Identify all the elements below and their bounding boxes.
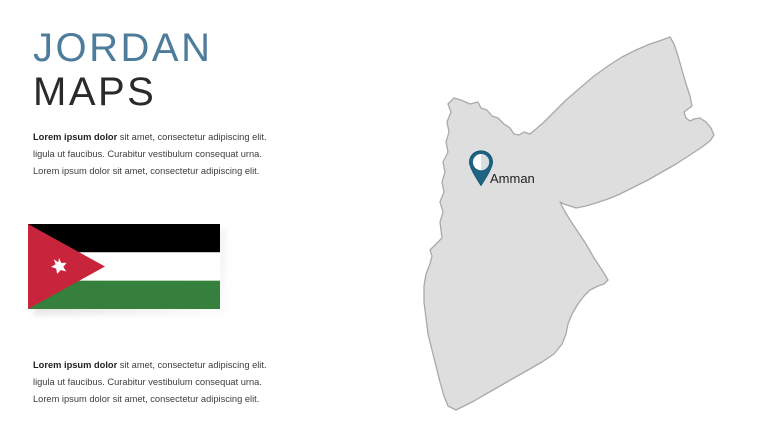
page-title: JORDAN MAPS — [33, 28, 333, 112]
jordan-map-shape[interactable] — [418, 24, 750, 416]
jordan-map[interactable] — [418, 24, 750, 416]
title-line-maps: MAPS — [33, 72, 333, 112]
jordan-flag — [28, 224, 220, 309]
paragraph-top-lead: Lorem ipsum dolor — [33, 132, 117, 142]
title-line-jordan: JORDAN — [33, 28, 333, 68]
city-label-amman: Amman — [490, 171, 535, 186]
paragraph-bottom-lead: Lorem ipsum dolor — [33, 360, 117, 370]
flag-graphic — [28, 224, 220, 309]
description-paragraph-bottom: Lorem ipsum dolor sit amet, consectetur … — [33, 357, 283, 408]
jordan-country-outline[interactable] — [424, 37, 714, 410]
city-marker-amman[interactable]: Amman — [468, 150, 588, 192]
slide-canvas: JORDAN MAPS Lorem ipsum dolor sit amet, … — [0, 0, 760, 428]
description-paragraph-top: Lorem ipsum dolor sit amet, consectetur … — [33, 129, 283, 180]
